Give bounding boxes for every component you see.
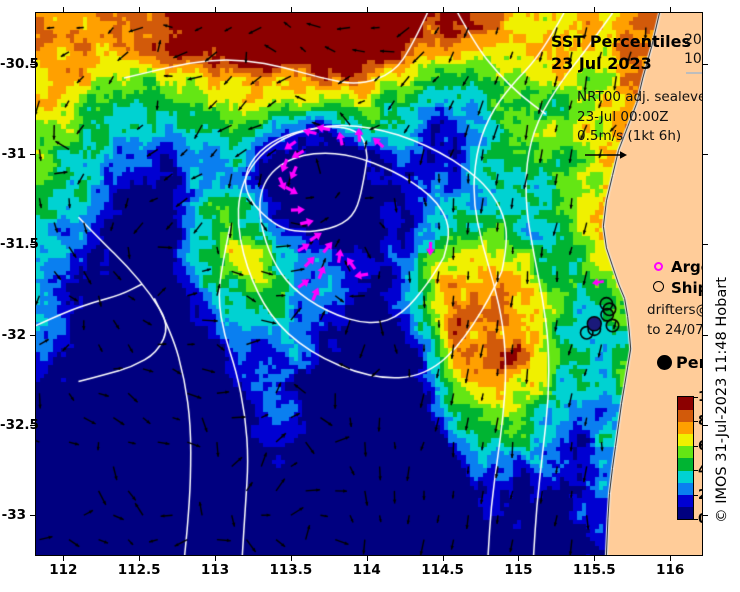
drifter-legend-text: drifters@6h to 24/07 12Z bbox=[647, 301, 703, 340]
y-axis-tick-right bbox=[702, 515, 708, 516]
colorbar: 020406080100 bbox=[677, 396, 694, 520]
y-axis-label: -32.5 bbox=[0, 417, 26, 433]
x-axis-label: 115 bbox=[504, 562, 532, 578]
y-axis-tick bbox=[30, 515, 36, 516]
x-axis-tick bbox=[670, 555, 671, 561]
map-title: SST Percentiles 23 Jul 2023 bbox=[551, 31, 691, 74]
x-axis-tick bbox=[518, 555, 519, 561]
map-title-line2: 23 Jul 2023 bbox=[551, 53, 691, 75]
x-axis-tick bbox=[215, 555, 216, 561]
colorbar-tick-label: 20 bbox=[698, 487, 703, 503]
colorbar-band bbox=[678, 482, 693, 495]
colorbar-tick-label: 100 bbox=[698, 389, 703, 405]
y-axis-label: -31.5 bbox=[0, 236, 26, 252]
x-axis-tick-top bbox=[367, 7, 368, 13]
map-title-line1: SST Percentiles bbox=[551, 31, 691, 53]
colorbar-band bbox=[678, 495, 693, 508]
y-axis-label: -30.5 bbox=[0, 56, 26, 72]
y-axis-tick-right bbox=[702, 154, 708, 155]
map-plot-area[interactable]: SST Percentiles 23 Jul 2023 200m 1000m N… bbox=[35, 12, 703, 556]
model-metadata: NRT00 adj. sealevel 23-Jul 00:00Z 0.5m/s… bbox=[577, 88, 703, 147]
city-marker-perth: Perth bbox=[657, 353, 703, 372]
y-axis-tick bbox=[30, 154, 36, 155]
ship-icon bbox=[647, 280, 669, 296]
x-axis-tick bbox=[139, 555, 140, 561]
legend-label-argo: Argo bbox=[671, 258, 703, 276]
perth-label: Perth bbox=[676, 353, 703, 372]
y-axis-label: -32 bbox=[0, 327, 26, 343]
x-axis-label: 114 bbox=[353, 562, 381, 578]
y-axis-tick-right bbox=[702, 335, 708, 336]
figure-canvas: SST Percentiles 23 Jul 2023 200m 1000m N… bbox=[0, 0, 740, 592]
x-axis-label: 112 bbox=[49, 562, 77, 578]
colorbar-band bbox=[678, 458, 693, 471]
x-axis-tick-top bbox=[443, 7, 444, 13]
legend-row-argo: Argo bbox=[647, 256, 703, 277]
x-axis-tick-top bbox=[215, 7, 216, 13]
marker-legend: Argo Ship bbox=[647, 256, 703, 298]
vector-scale-arrow-icon bbox=[584, 146, 628, 165]
y-axis-label: -33 bbox=[0, 507, 26, 523]
colorbar-band bbox=[678, 507, 693, 520]
colorbar-band bbox=[678, 434, 693, 447]
depth-label-1000m: 1000m bbox=[684, 50, 703, 69]
colorbar-tick-label: 60 bbox=[698, 438, 703, 454]
legend-row-ship: Ship bbox=[647, 277, 703, 298]
colorbar-band bbox=[678, 421, 693, 434]
x-axis-tick bbox=[63, 555, 64, 561]
perth-dot-icon bbox=[657, 355, 672, 370]
x-axis-tick-top bbox=[594, 7, 595, 13]
drifter-legend-line2: to 24/07 12Z bbox=[647, 321, 703, 341]
x-axis-tick-top bbox=[518, 7, 519, 13]
argo-icon bbox=[647, 259, 669, 275]
x-axis-label: 112.5 bbox=[118, 562, 161, 578]
meta-vector-scale: 0.5m/s (1kt 6h) bbox=[577, 127, 703, 147]
x-axis-tick-top bbox=[670, 7, 671, 13]
colorbar-band bbox=[678, 446, 693, 459]
drifter-legend-line1: drifters@6h bbox=[647, 301, 703, 321]
x-axis-tick-top bbox=[139, 7, 140, 13]
colorbar-band bbox=[678, 409, 693, 422]
y-axis-tick-right bbox=[702, 244, 708, 245]
depth-contour-legend: 200m 1000m bbox=[684, 31, 703, 69]
colorbar-tick-label: 80 bbox=[698, 413, 703, 429]
x-axis-tick bbox=[291, 555, 292, 561]
colorbar-band bbox=[678, 470, 693, 483]
colorbar-gradient: 020406080100 bbox=[677, 396, 694, 520]
x-axis-tick bbox=[594, 555, 595, 561]
x-axis-label: 113 bbox=[201, 562, 229, 578]
y-axis-label: -31 bbox=[0, 146, 26, 162]
x-axis-tick-top bbox=[291, 7, 292, 13]
meta-source: NRT00 adj. sealevel bbox=[577, 88, 703, 108]
x-axis-label: 113.5 bbox=[270, 562, 313, 578]
y-axis-tick-right bbox=[702, 64, 708, 65]
x-axis-tick-top bbox=[63, 7, 64, 13]
y-axis-tick bbox=[30, 335, 36, 336]
credit-text: © IMOS 31-Jul-2023 11:48 Hobart bbox=[710, 250, 734, 550]
depth-label-200m: 200m bbox=[684, 31, 703, 50]
colorbar-tick-label: 0 bbox=[698, 511, 703, 527]
meta-datetime: 23-Jul 00:00Z bbox=[577, 108, 703, 128]
x-axis-label: 115.5 bbox=[573, 562, 616, 578]
y-axis-tick-right bbox=[702, 425, 708, 426]
x-axis-tick bbox=[443, 555, 444, 561]
colorbar-tick-label: 40 bbox=[698, 462, 703, 478]
colorbar-band bbox=[678, 397, 693, 410]
legend-label-ship: Ship bbox=[671, 279, 703, 297]
x-axis-tick bbox=[367, 555, 368, 561]
x-axis-label: 116 bbox=[656, 562, 684, 578]
x-axis-label: 114.5 bbox=[421, 562, 464, 578]
depth-contour-sample-line bbox=[686, 72, 703, 74]
